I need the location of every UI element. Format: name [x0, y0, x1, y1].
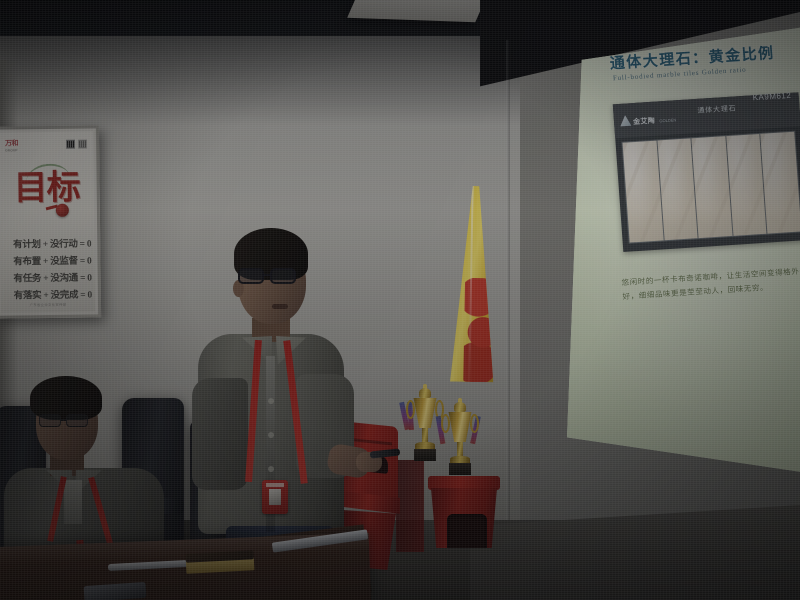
- stool-cutout: [447, 514, 487, 552]
- tile-product-card: 金艾陶 GOLDEN 通体大理石 KA9M612: [613, 92, 800, 252]
- poster-slogan-list: 有计划 + 没行动 = 0 有布置 + 没监督 = 0 有任务 + 没沟通 = …: [2, 235, 92, 301]
- presenter-id-badge: [262, 480, 288, 514]
- poster-sheet: 万和 GROUP 目标 有计划 + 没行动 = 0 有布置 + 没监督 = 0 …: [0, 131, 95, 312]
- shirt-button: [268, 466, 274, 472]
- attendee-glasses-icon: [38, 414, 98, 428]
- poster-qr-codes: [66, 140, 87, 149]
- trophy-right: [447, 398, 473, 476]
- trophy-handle-left: [441, 414, 450, 433]
- wall-poster: 万和 GROUP 目标 有计划 + 没行动 = 0 有布置 + 没监督 = 0 …: [0, 125, 101, 318]
- tile-slab: [623, 141, 664, 243]
- brand-sub-label: GOLDEN: [659, 117, 676, 123]
- qr-code-icon: [66, 140, 75, 149]
- tile-slab: [657, 138, 698, 240]
- trophy-base: [414, 449, 436, 461]
- projection-screen[interactable]: 通体大理石：黄金比例 Full-bodied marble tiles Gold…: [567, 26, 800, 478]
- tile-slab: [692, 136, 733, 238]
- badge-photo: [269, 489, 281, 505]
- brand-logo: 金艾陶 GOLDEN: [619, 108, 676, 130]
- slide-body-text: 悠闲时的一杯卡布奇诺咖啡，让生活空间变得格外美好，细细品味更是茔茔动人，回味无穷…: [621, 264, 800, 304]
- trophy-cup: [412, 398, 438, 428]
- badge-header-strip: [266, 483, 284, 487]
- trophy-cup: [447, 412, 473, 442]
- tile-swatch-grid: [621, 131, 800, 244]
- poster-seal-icon: [56, 204, 69, 217]
- tile-slab: [726, 134, 767, 236]
- wall-corner-seam: [506, 40, 510, 580]
- tile-product-code: KA9M612: [752, 91, 791, 102]
- notebook[interactable]: [185, 550, 254, 576]
- back-wall-shadow: [0, 36, 520, 126]
- shirt-button: [268, 432, 274, 438]
- trophy-lid: [419, 388, 431, 398]
- tile-slab: [761, 132, 800, 234]
- list-item: 有落实 + 没完成 = 0: [3, 286, 92, 301]
- presenter-sleeve-left: [192, 378, 248, 490]
- conference-room-photo: 通体大理石：黄金比例 Full-bodied marble tiles Gold…: [0, 0, 800, 600]
- poster-logo-sub: GROUP: [5, 148, 18, 152]
- trophy-left: [412, 384, 438, 462]
- list-item: 有任务 + 没沟通 = 0: [3, 269, 92, 284]
- qr-code-icon: [78, 140, 87, 149]
- poster-footer-text: 广东省企业文化宣传部: [1, 301, 95, 307]
- trophy-handle-right: [470, 414, 479, 433]
- stool-top: [428, 476, 500, 490]
- brand-name-label: 金艾陶: [633, 118, 655, 126]
- shirt-button: [268, 398, 274, 404]
- attendee-shirt-opening: [64, 480, 82, 524]
- poster-logo: 万和 GROUP: [5, 138, 18, 152]
- slide-content: 通体大理石：黄金比例 Full-bodied marble tiles Gold…: [567, 26, 800, 478]
- list-item: 有布置 + 没监督 = 0: [2, 252, 91, 267]
- red-plastic-stool[interactable]: [428, 476, 500, 556]
- trophy-handle-left: [406, 400, 415, 419]
- mountain-logo-icon: [620, 115, 632, 127]
- brand-name-text: 金艾陶 GOLDEN: [632, 108, 676, 129]
- trophy-base: [449, 463, 471, 475]
- trophy-lid: [454, 402, 466, 412]
- smartphone[interactable]: [84, 582, 147, 600]
- list-item: 有计划 + 没行动 = 0: [2, 235, 91, 250]
- presenter-mouth: [272, 304, 288, 309]
- presenter-glasses-icon: [238, 268, 308, 285]
- stool-body: [431, 488, 497, 548]
- tile-product-label: 通体大理石: [697, 103, 737, 115]
- poster-hero-text: 目标: [0, 159, 94, 209]
- poster-logo-text: 万和: [5, 140, 18, 147]
